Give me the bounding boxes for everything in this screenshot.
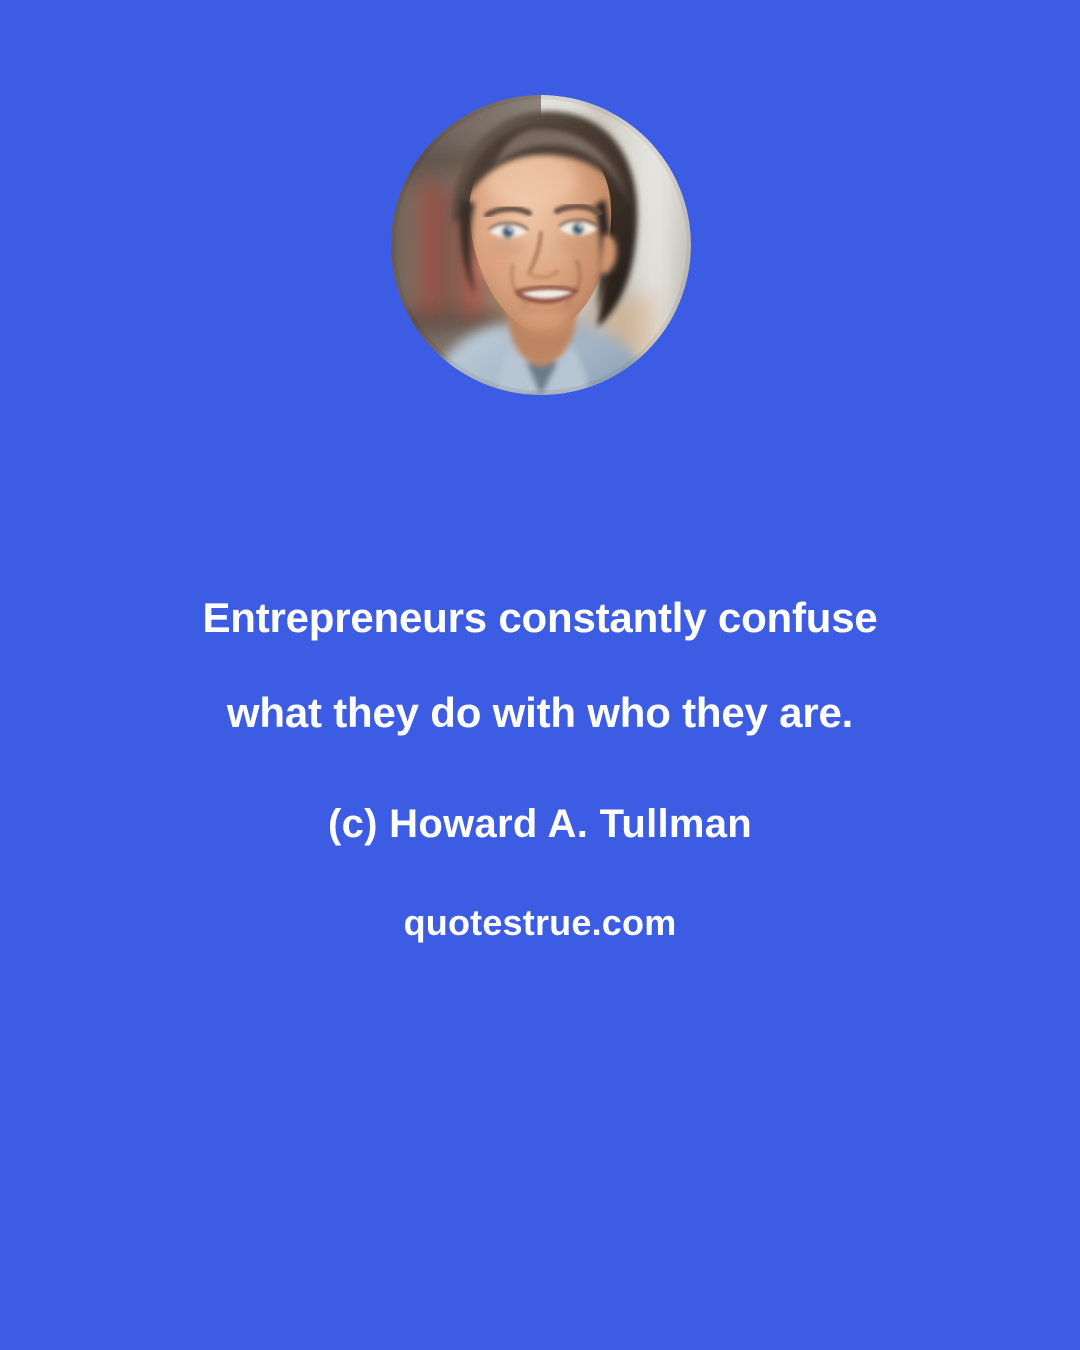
author-portrait-photo <box>391 95 691 395</box>
source-website: quotestrue.com <box>70 898 1010 948</box>
quote-card: Entrepreneurs constantly confuse what th… <box>0 0 1080 1350</box>
quote-attribution: (c) Howard A. Tullman <box>70 796 1010 852</box>
quote-text-block: Entrepreneurs constantly confuse what th… <box>0 570 1080 948</box>
quote-line-1: Entrepreneurs constantly confuse <box>70 570 1010 665</box>
quote-line-2: what they do with who they are. <box>70 665 1010 760</box>
